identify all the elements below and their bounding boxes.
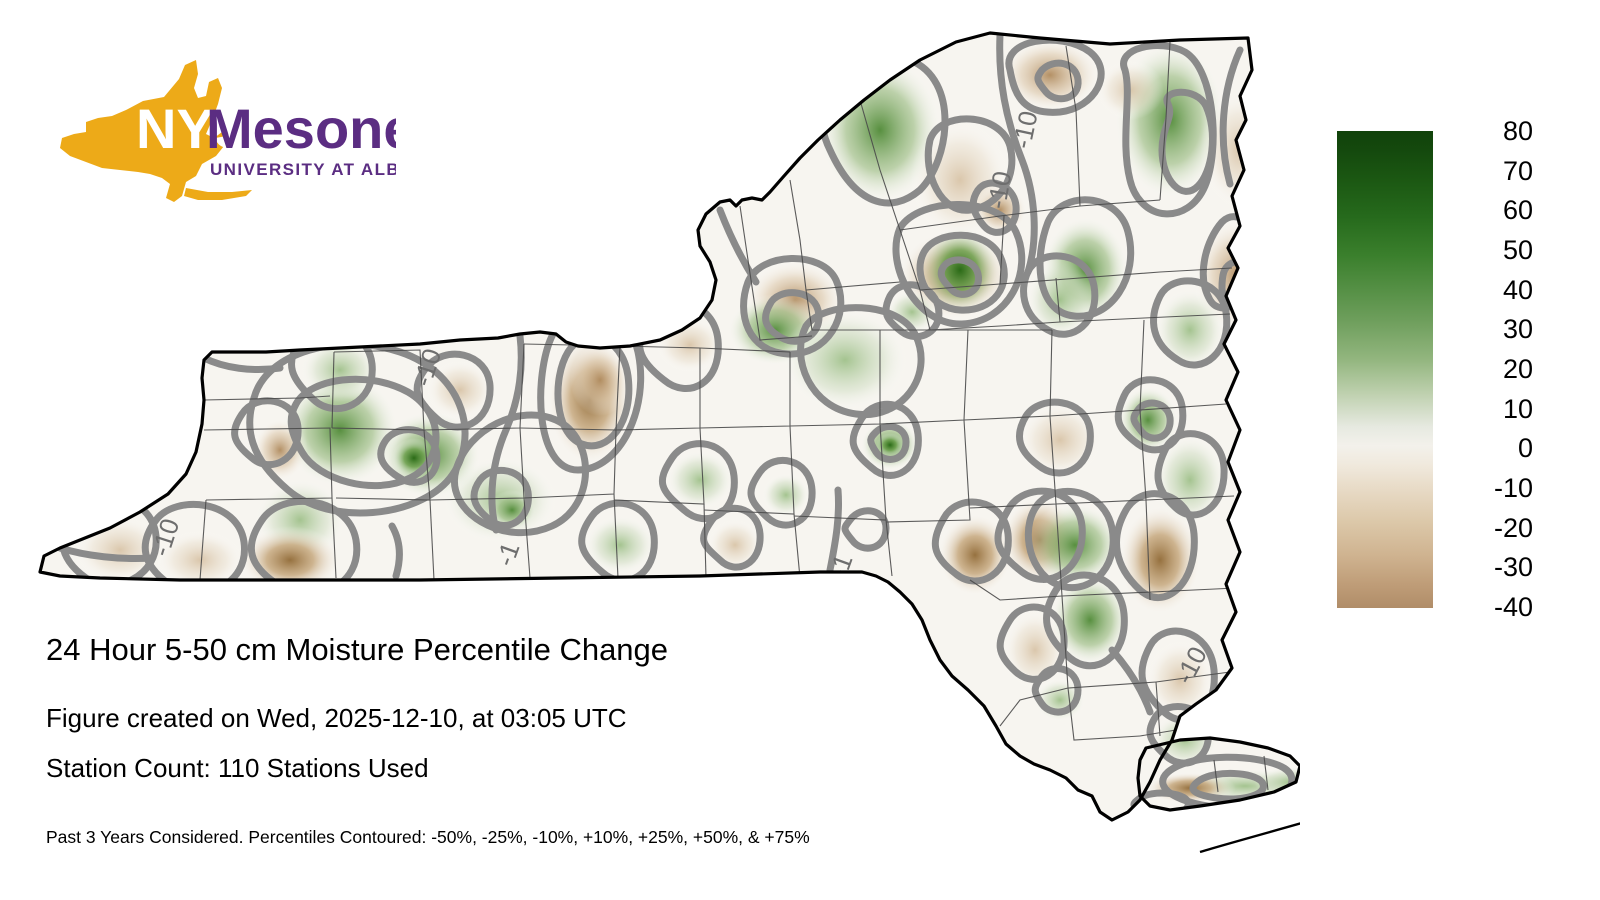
contour-note-text: Past 3 Years Considered. Percentiles Con…: [46, 827, 810, 848]
colorbar-tick-neg10: -10: [1443, 475, 1533, 502]
colorbar-tick-60: 60: [1443, 197, 1533, 224]
colorbar-tick-10: 10: [1443, 396, 1533, 423]
colorbar-tick-neg30: -30: [1443, 554, 1533, 581]
contour-label: -10: [981, 169, 1017, 211]
colorbar-tick-80: 80: [1443, 118, 1533, 145]
colorbar-tick-0: 0: [1443, 435, 1533, 462]
figure-created-text: Figure created on Wed, 2025-12-10, at 03…: [46, 703, 627, 734]
new-york-state-moisture-map: -10 -10 -10 -10 -10 -1 -1: [0, 0, 1300, 880]
colorbar-tick-20: 20: [1443, 356, 1533, 383]
station-count-text: Station Count: 110 Stations Used: [46, 753, 429, 784]
colorbar-tick-50: 50: [1443, 237, 1533, 264]
map-svg: -10 -10 -10 -10 -10 -1 -1: [0, 0, 1300, 880]
colorbar: [1337, 131, 1433, 608]
colorbar-tick-neg20: -20: [1443, 515, 1533, 542]
colorbar-tick-neg40: -40: [1443, 594, 1533, 621]
colorbar-tick-40: 40: [1443, 277, 1533, 304]
colorbar-tick-70: 70: [1443, 158, 1533, 185]
map-field: -10 -10 -10 -10 -10 -1 -1: [0, 0, 1300, 880]
colorbar-tick-30: 30: [1443, 316, 1533, 343]
page-title: 24 Hour 5-50 cm Moisture Percentile Chan…: [46, 632, 668, 668]
colorbar-tick-labels: 80 70 60 50 40 30 20 10 0 -10 -20 -30 -4…: [1443, 110, 1563, 630]
colorbar-gradient: [1337, 131, 1433, 608]
